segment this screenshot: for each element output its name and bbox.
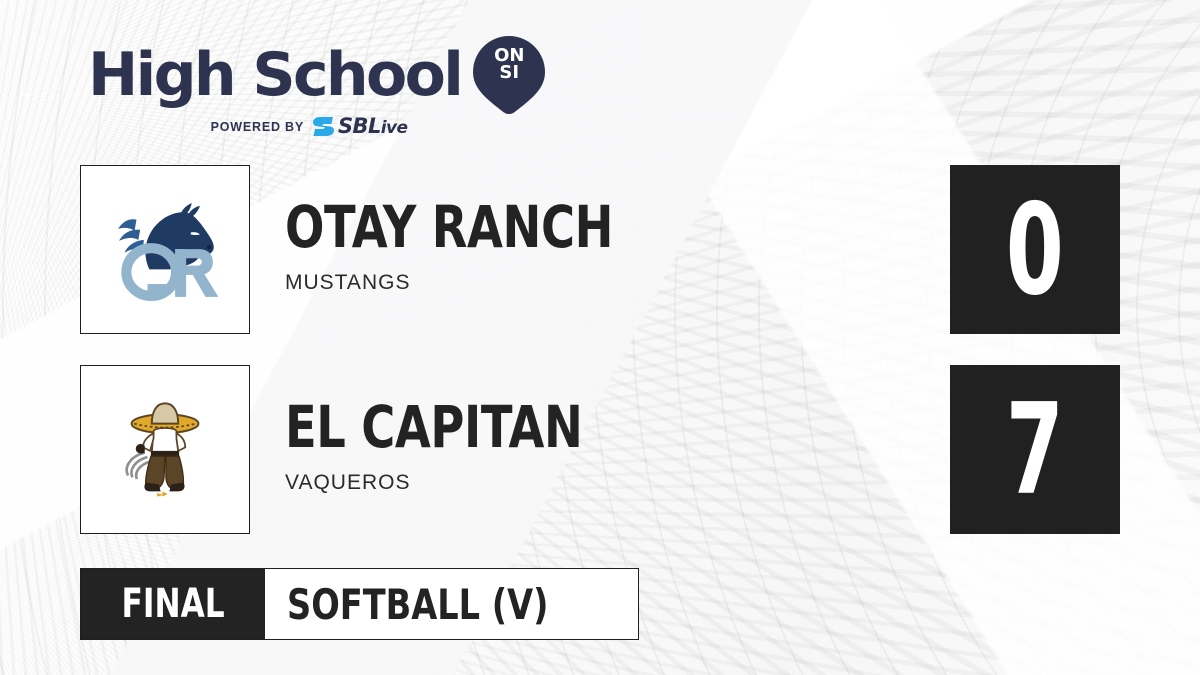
on-si-pin-icon: ON SI bbox=[473, 36, 545, 114]
team-mascot-home: VAQUEROS bbox=[285, 471, 925, 495]
sblive-logo: SBLive bbox=[313, 116, 407, 137]
score-box-away: 0 bbox=[950, 165, 1120, 334]
otay-ranch-mustangs-logo-icon bbox=[96, 181, 234, 319]
team-name-away: OTAY RANCH bbox=[285, 197, 797, 257]
team-name-home: EL CAPITAN bbox=[285, 397, 797, 457]
team-mascot-away: MUSTANGS bbox=[285, 271, 925, 295]
brand-header: High School ON SI POWERED BY SBLi bbox=[88, 36, 508, 137]
team-text-away: OTAY RANCH MUSTANGS bbox=[285, 197, 925, 295]
powered-by-row: POWERED BY SBLive bbox=[88, 116, 508, 137]
team-text-home: EL CAPITAN VAQUEROS bbox=[285, 397, 925, 495]
score-value-home: 7 bbox=[1006, 387, 1064, 513]
game-state-label: FINAL bbox=[122, 581, 225, 627]
team-logo-box-away bbox=[80, 165, 250, 334]
high-school-wordmark: High School bbox=[88, 46, 461, 105]
sport-label-container: SOFTBALL (V) bbox=[265, 569, 638, 639]
on-si-pin-line-2: SI bbox=[473, 64, 545, 81]
scoreboard-graphic: High School ON SI POWERED BY SBLi bbox=[0, 0, 1200, 675]
sblive-wordmark-lower: ive bbox=[381, 118, 408, 138]
status-bar: FINAL SOFTBALL (V) bbox=[80, 568, 639, 640]
sport-label: SOFTBALL (V) bbox=[287, 580, 548, 629]
team-logo-box-home bbox=[80, 365, 250, 534]
el-capitan-vaqueros-logo-icon bbox=[99, 384, 231, 516]
brand-row: High School ON SI bbox=[88, 36, 508, 114]
on-si-pin-text: ON SI bbox=[473, 47, 545, 81]
powered-by-label: POWERED BY bbox=[211, 120, 304, 134]
sblive-s-mark-icon bbox=[313, 117, 335, 136]
score-box-home: 7 bbox=[950, 365, 1120, 534]
sblive-wordmark: SBLive bbox=[338, 116, 407, 137]
game-state-badge: FINAL bbox=[81, 569, 265, 639]
sblive-wordmark-upper: SBL bbox=[338, 114, 381, 138]
score-value-away: 0 bbox=[1006, 187, 1064, 313]
